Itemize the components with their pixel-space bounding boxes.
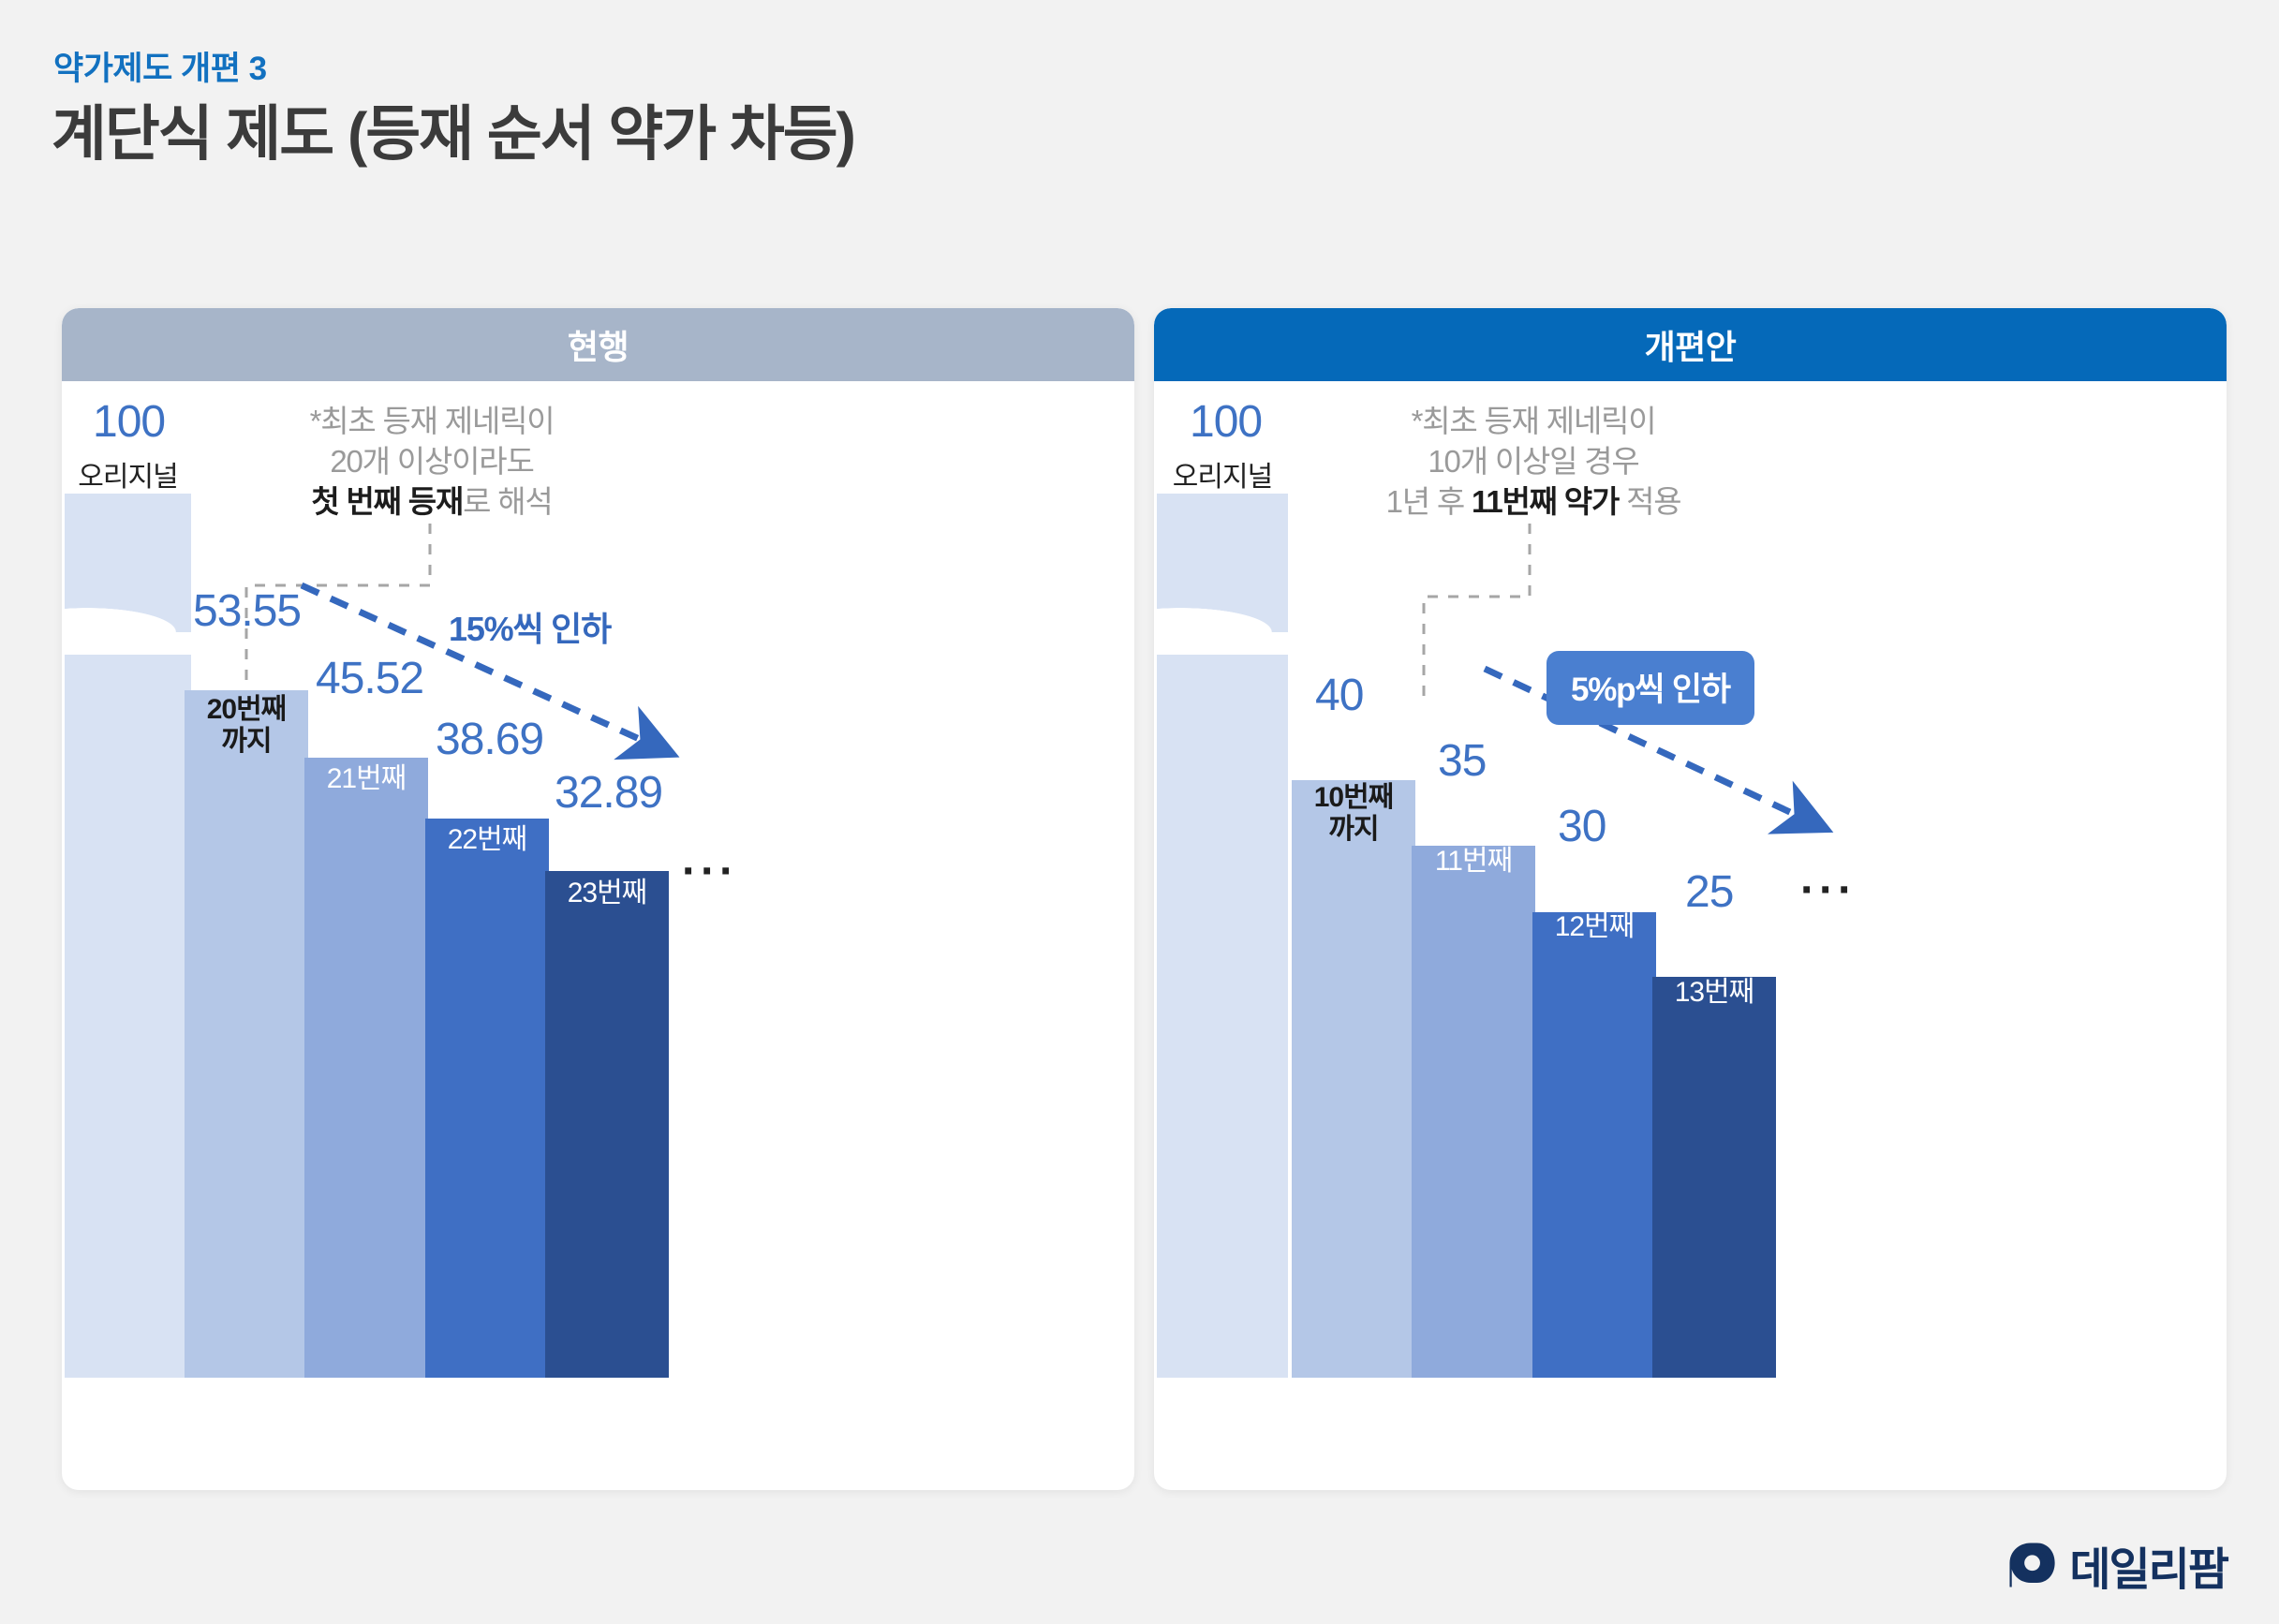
current-note-line3-bold: 첫 번째 등재: [311, 484, 463, 519]
current-bar-label-4: 23번째: [545, 878, 669, 909]
current-bar-value-4: 32.89: [555, 767, 662, 819]
reform-note-line3-bold: 11번째 약가: [1472, 484, 1619, 519]
current-bar-1: [185, 690, 308, 1378]
current-bar-value-0: 100: [93, 396, 165, 448]
reform-note-line3-rest: 적용: [1619, 484, 1680, 519]
reform-note-line3-pre: 1년 후: [1386, 484, 1472, 519]
current-bar-2: [304, 758, 428, 1378]
current-bar-value-1: 53.55: [193, 585, 301, 637]
dailypharm-logo-icon: [2005, 1539, 2058, 1591]
reform-bar-value-3: 30: [1558, 801, 1606, 852]
current-bar-value-2: 45.52: [316, 653, 423, 704]
reform-note-line1: *최초 등재 제네릭이: [1332, 402, 1735, 442]
current-note: *최초 등재 제네릭이 20개 이상이라도 첫 번째 등재로 해석: [249, 402, 614, 523]
reform-bar-4: [1652, 977, 1776, 1378]
reform-bar-value-0: 100: [1190, 396, 1262, 448]
brand-logo: 데일리팜: [2005, 1532, 2227, 1598]
current-bar-label-1: 20번째 까지: [185, 694, 308, 757]
panel-current: 현행 *최초 등재 제네릭이 20개 이상이라도 첫 번째 등재로 해석: [62, 308, 1134, 1490]
reform-bar-label-2: 11번째: [1412, 846, 1535, 878]
current-bar-label-1-line1: 20번째: [185, 694, 308, 726]
reform-bar-value-2: 35: [1438, 735, 1486, 787]
reform-bar-value-1: 40: [1315, 670, 1363, 721]
reform-bar-label-1: 10번째 까지: [1292, 782, 1415, 845]
reform-bar-3: [1532, 912, 1656, 1378]
current-bar-label-2: 21번째: [304, 763, 428, 795]
reform-bar-label-1-line1: 10번째: [1292, 782, 1415, 814]
reform-note: *최초 등재 제네릭이 10개 이상일 경우 1년 후 11번째 약가 적용: [1332, 402, 1735, 523]
reform-bar-original-top: [1157, 494, 1288, 632]
current-note-line1: *최초 등재 제네릭이: [249, 402, 614, 442]
current-bar-3: [425, 819, 549, 1378]
reform-bar-value-4: 25: [1685, 866, 1733, 918]
current-bar-label-3: 22번째: [425, 824, 549, 856]
reform-bar-2: [1412, 846, 1535, 1378]
current-bar-original-top: [65, 494, 191, 632]
eyebrow-label: 약가제도 개편 3: [53, 42, 267, 90]
reform-bar-original: [1157, 494, 1288, 1378]
current-decrease-label: 15%씩 인하: [449, 602, 611, 651]
reform-ellipsis: ···: [1800, 868, 1857, 913]
reform-connector-bracket: [1424, 524, 1530, 703]
panel-current-header: 현행: [62, 308, 1134, 381]
current-bar-label-1-line2: 까지: [185, 726, 308, 758]
current-bar-value-3: 38.69: [436, 714, 543, 765]
panel-reform: 개편안 *최초 등재 제네릭이 10개 이상일 경우 1년 후 11번째 약가 …: [1154, 308, 2227, 1490]
reform-bar-label-1-line2: 까지: [1292, 814, 1415, 846]
brand-logo-text: 데일리팜: [2069, 1532, 2227, 1598]
current-ellipsis: ···: [682, 849, 738, 894]
page-title: 계단식 제도 (등재 순서 약가 차등): [52, 86, 854, 172]
reform-bar-label-4: 13번째: [1652, 977, 1776, 1009]
current-note-line2: 20개 이상이라도: [249, 442, 614, 482]
reform-decrease-badge: 5%p씩 인하: [1546, 651, 1754, 725]
reform-note-line2: 10개 이상일 경우: [1332, 442, 1735, 482]
current-bar-original-bottom: [65, 655, 191, 1378]
current-note-line3-rest: 로 해석: [463, 484, 552, 519]
reform-bar-label-0: 오리지널: [1157, 462, 1288, 494]
panel-reform-plot: *최초 등재 제네릭이 10개 이상일 경우 1년 후 11번째 약가 적용 1…: [1154, 381, 2227, 1490]
panel-reform-header: 개편안: [1154, 308, 2227, 381]
current-bar-4: [545, 871, 669, 1378]
current-note-line3: 첫 번째 등재로 해석: [249, 482, 614, 523]
current-bar-label-0: 오리지널: [65, 462, 191, 494]
reform-bar-label-3: 12번째: [1532, 911, 1656, 943]
reform-bar-original-bottom: [1157, 655, 1288, 1378]
infographic-page: 약가제도 개편 3 계단식 제도 (등재 순서 약가 차등) 현행 *최초 등재…: [0, 0, 2279, 1624]
reform-note-line3: 1년 후 11번째 약가 적용: [1332, 482, 1735, 523]
panel-current-plot: *최초 등재 제네릭이 20개 이상이라도 첫 번째 등재로 해석 100 오리…: [62, 381, 1134, 1490]
reform-bar-1: [1292, 780, 1415, 1378]
current-bar-original: [65, 494, 191, 1378]
